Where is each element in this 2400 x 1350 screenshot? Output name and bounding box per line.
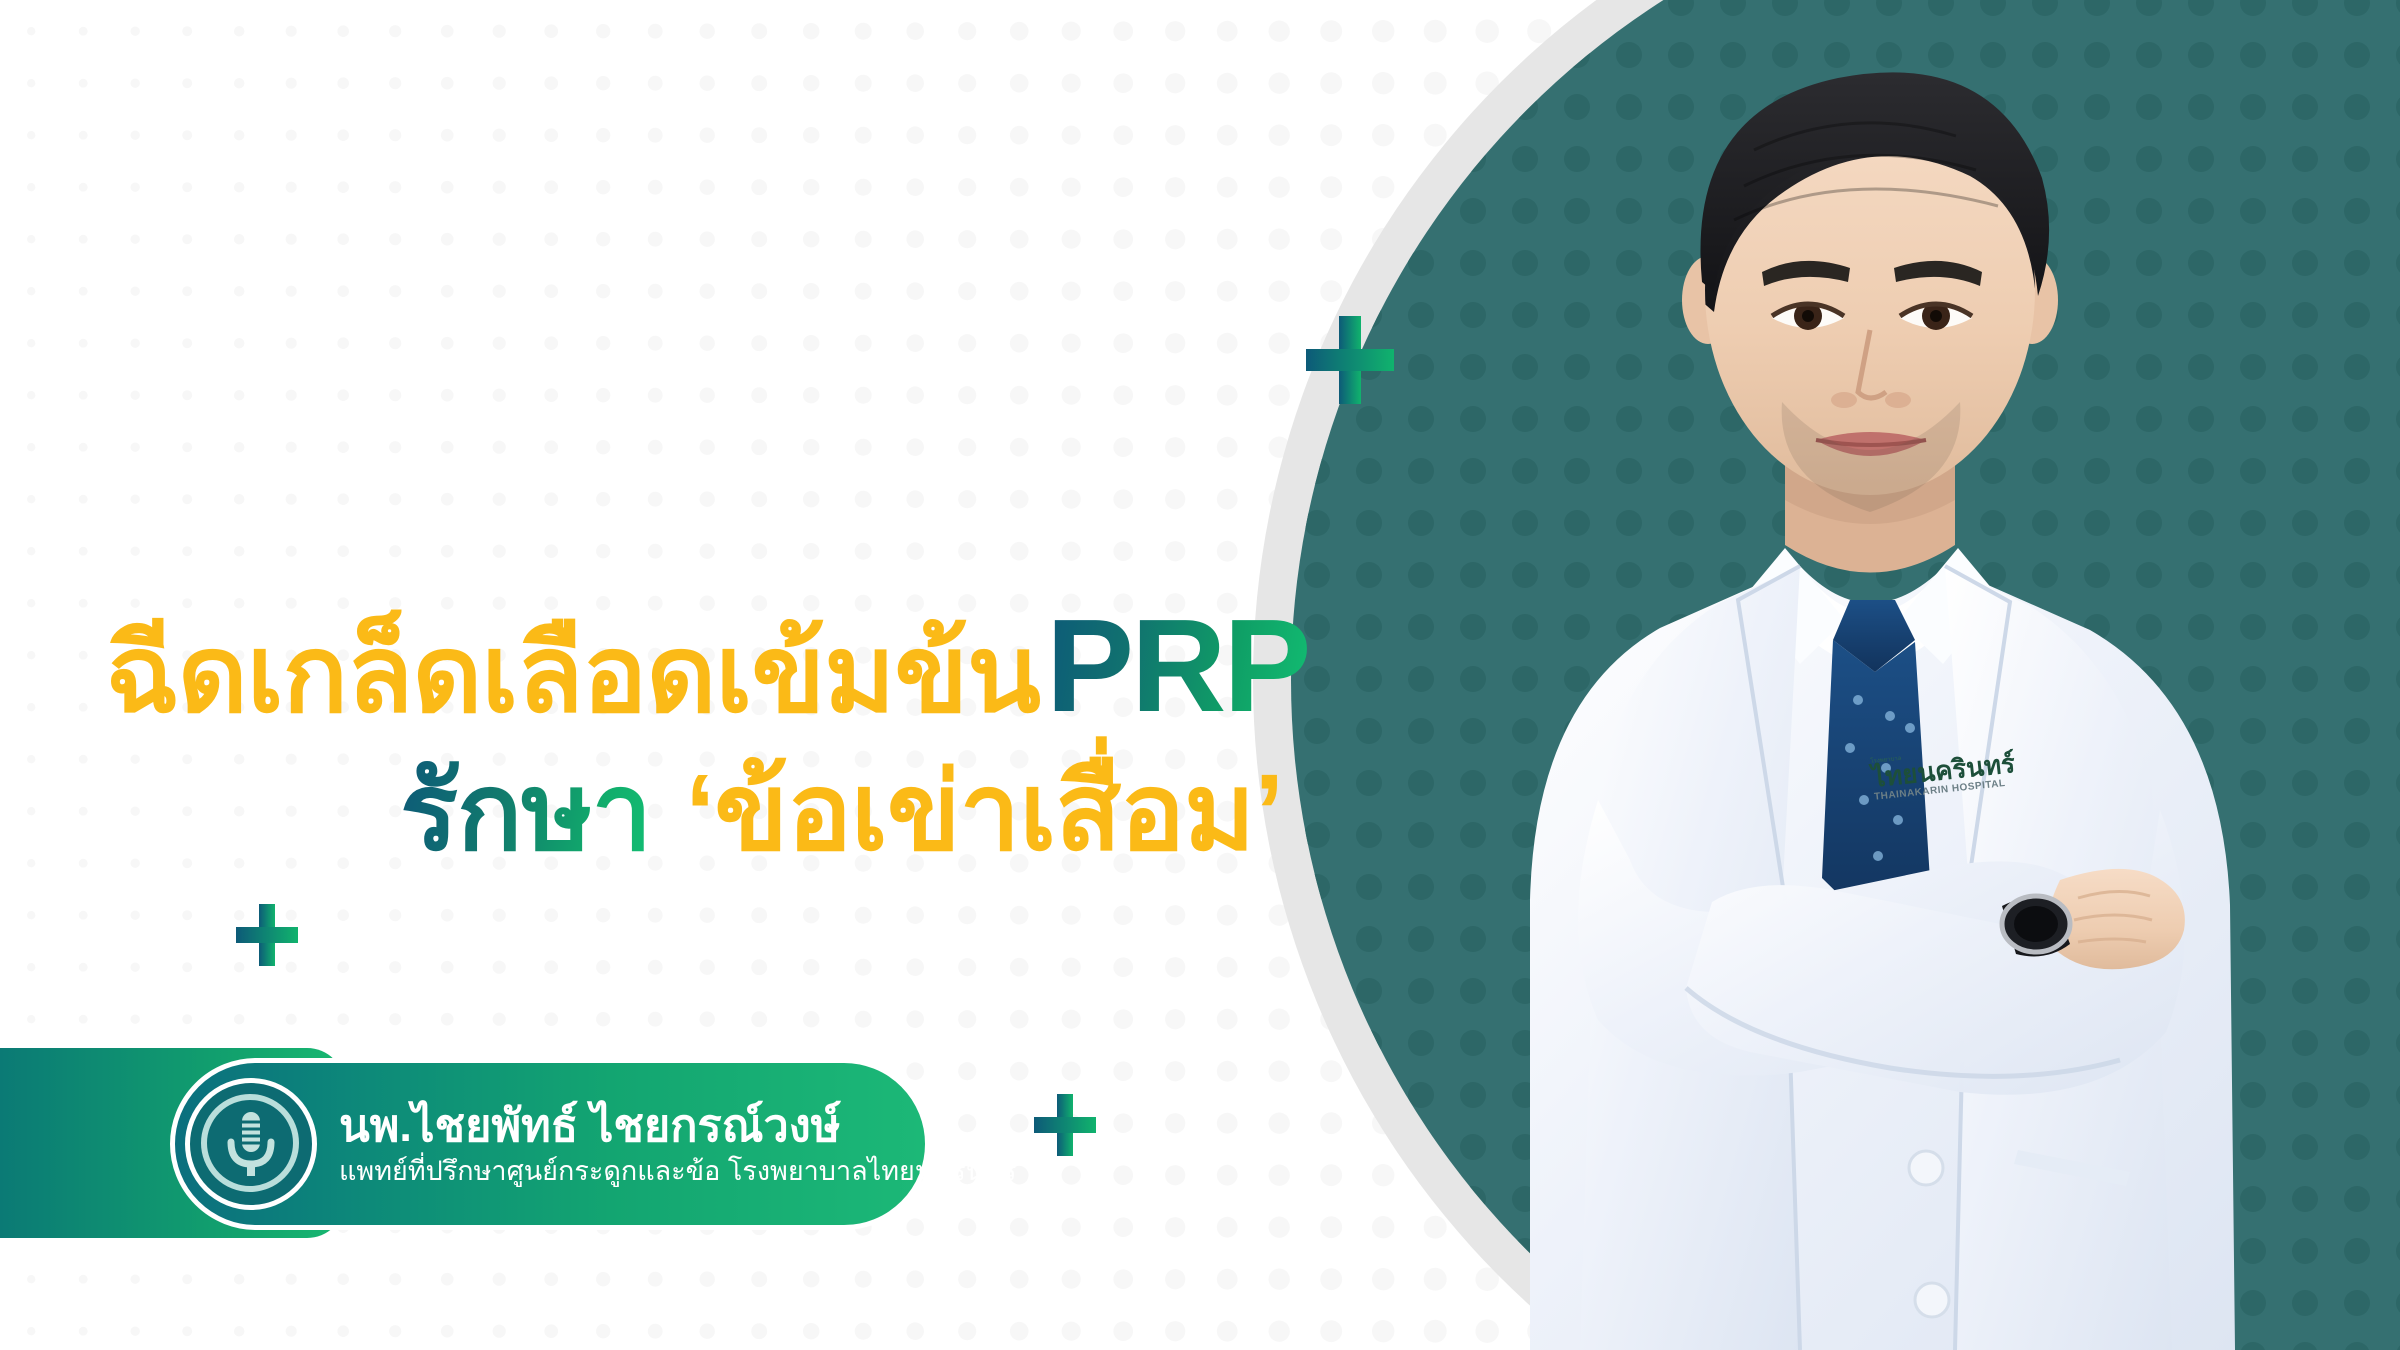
headline-acronym-prp: PRP: [1046, 600, 1308, 732]
speaker-name: นพ.ไชยพัทธ์ ไชยกรณ์วงษ์: [339, 1101, 1017, 1151]
headline-line-1: ฉีดเกล็ดเลือดเข้มข้น PRP: [0, 600, 1330, 732]
headline-block: ฉีดเกล็ดเลือดเข้มข้น PRP รักษา ‘ข้อเข่าเ…: [0, 600, 1330, 866]
plus-mark-top-icon: [1300, 310, 1400, 410]
headline-line-2: รักษา ‘ข้อเข่าเสื่อม’: [0, 758, 1330, 866]
badge-text-block: นพ.ไชยพัทธ์ ไชยกรณ์วงษ์ แพทย์ที่ปรึกษาศู…: [339, 1101, 1043, 1188]
speaker-name-badge: นพ.ไชยพัทธ์ ไชยกรณ์วงษ์ แพทย์ที่ปรึกษาศู…: [170, 1058, 930, 1230]
headline-thai-treat: รักษา: [400, 758, 651, 866]
doctor-portrait: [1330, 0, 2400, 1350]
banner-canvas: ฉีดเกล็ดเลือดเข้มข้น PRP รักษา ‘ข้อเข่าเ…: [0, 0, 2400, 1350]
headline-thai-primary: ฉีดเกล็ดเลือดเข้มข้น: [105, 620, 1040, 728]
headline-thai-condition: ‘ข้อเข่าเสื่อม’: [685, 758, 1283, 866]
plus-mark-left-icon: [232, 900, 302, 970]
podcast-microphone-icon: [185, 1078, 317, 1210]
speaker-title: แพทย์ที่ปรึกษาศูนย์กระดูกและข้อ โรงพยาบา…: [339, 1155, 1017, 1187]
